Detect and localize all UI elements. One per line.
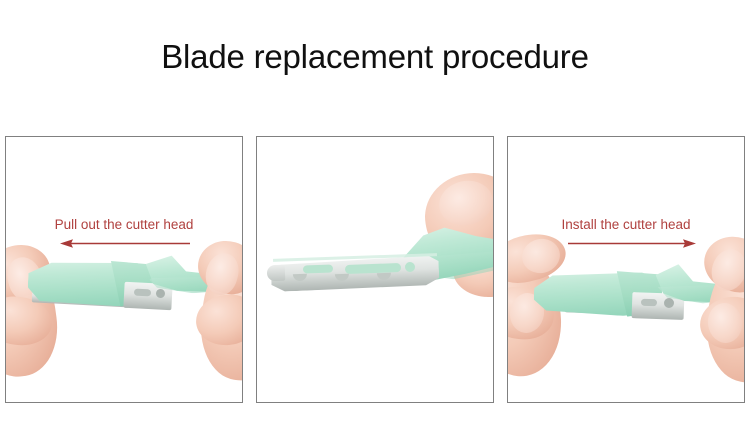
panel-cutter-head-illustration bbox=[257, 137, 493, 402]
arrow-left-icon bbox=[58, 237, 192, 251]
panel-install-illustration bbox=[508, 137, 744, 402]
blade-tip-left bbox=[267, 265, 286, 282]
blade-slot-left bbox=[303, 264, 333, 273]
panel-cutter-head[interactable] bbox=[256, 136, 494, 403]
right-index-finger bbox=[193, 291, 242, 348]
panel-pull-out[interactable]: Pull out the cutter head bbox=[5, 136, 243, 403]
arrow-right-icon bbox=[566, 237, 698, 251]
caption-install: Install the cutter head bbox=[508, 217, 744, 232]
caption-pull-out: Pull out the cutter head bbox=[6, 217, 242, 232]
blade-replacement-infographic: Blade replacement procedure bbox=[0, 0, 750, 425]
panel-pull-out-illustration bbox=[6, 137, 242, 402]
cutter-head-slot bbox=[641, 299, 657, 307]
panels-row: Pull out the cutter head bbox=[5, 136, 745, 405]
panel-install[interactable]: Install the cutter head bbox=[507, 136, 745, 403]
cutter-head-slot bbox=[134, 289, 151, 297]
page-title: Blade replacement procedure bbox=[0, 36, 750, 78]
